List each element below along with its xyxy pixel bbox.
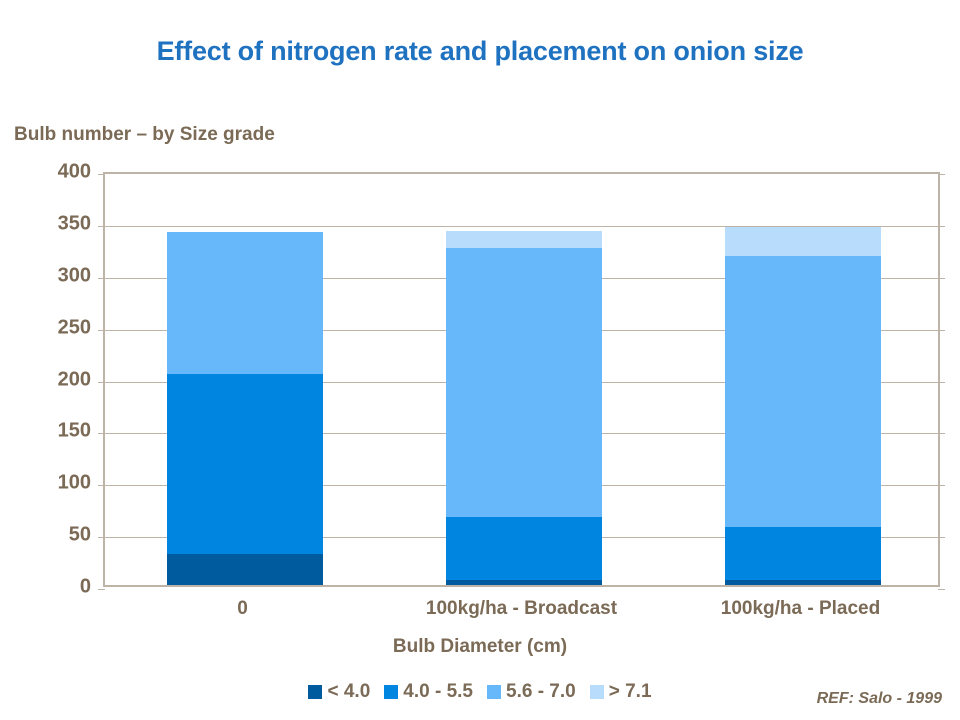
bar-group[interactable]	[167, 170, 323, 585]
y-axis-tick-mark	[938, 278, 945, 279]
legend-label: < 4.0	[327, 681, 370, 703]
bar-segment[interactable]	[167, 554, 323, 585]
page-title: Effect of nitrogen rate and placement on…	[0, 36, 960, 67]
x-axis-category-label: 0	[103, 598, 382, 620]
x-axis-title: Bulb Diameter (cm)	[0, 636, 960, 658]
legend-swatch-icon	[384, 685, 398, 699]
y-axis-tick-mark	[938, 330, 945, 331]
y-axis-tick-mark	[98, 226, 105, 227]
reference-note: REF: Salo - 1999	[817, 690, 942, 708]
y-axis-tick-label: 150	[58, 420, 91, 443]
bar-segment[interactable]	[446, 517, 602, 580]
legend-label: > 7.1	[609, 681, 652, 703]
y-axis-tick-mark	[98, 485, 105, 486]
bar-segment[interactable]	[725, 527, 881, 580]
legend-label: 4.0 - 5.5	[403, 681, 473, 703]
y-axis-tick-mark	[98, 382, 105, 383]
y-axis-tick-mark	[98, 537, 105, 538]
y-axis-tick-mark	[938, 226, 945, 227]
y-axis-tick-label: 400	[58, 161, 91, 184]
y-axis-tick-label: 350	[58, 212, 91, 235]
bar-segment[interactable]	[167, 374, 323, 553]
bar-segment[interactable]	[725, 227, 881, 256]
y-axis-tick-mark	[938, 537, 945, 538]
bar-group[interactable]	[446, 170, 602, 585]
y-axis-tick-mark	[938, 589, 945, 590]
legend-item[interactable]: > 7.1	[590, 681, 652, 703]
legend-label: 5.6 - 7.0	[506, 681, 576, 703]
y-axis-tick-label: 200	[58, 368, 91, 391]
legend-item[interactable]: 5.6 - 7.0	[487, 681, 576, 703]
legend-swatch-icon	[590, 685, 604, 699]
y-axis-tick-label: 300	[58, 264, 91, 287]
y-axis-tick-mark	[98, 330, 105, 331]
x-axis-category-label: 100kg/ha - Placed	[661, 598, 940, 620]
bar-segment[interactable]	[725, 580, 881, 585]
legend-swatch-icon	[308, 685, 322, 699]
y-axis-tick-mark	[938, 485, 945, 486]
y-axis-tick-mark	[98, 589, 105, 590]
legend-item[interactable]: < 4.0	[308, 681, 370, 703]
y-axis-tick-label: 100	[58, 472, 91, 495]
x-axis-category-label: 100kg/ha - Broadcast	[382, 598, 661, 620]
legend-swatch-icon	[487, 685, 501, 699]
legend-item[interactable]: 4.0 - 5.5	[384, 681, 473, 703]
y-axis-tick-mark	[938, 174, 945, 175]
bar-segment[interactable]	[446, 231, 602, 248]
y-axis-tick-mark	[938, 382, 945, 383]
bar-group[interactable]	[725, 170, 881, 585]
y-axis-tick-mark	[938, 433, 945, 434]
y-axis-tick-mark	[98, 174, 105, 175]
bar-segment[interactable]	[446, 248, 602, 517]
y-axis-tick-label: 250	[58, 316, 91, 339]
bar-segment[interactable]	[725, 256, 881, 527]
plot-area	[103, 172, 940, 587]
y-axis-tick-mark	[98, 278, 105, 279]
y-axis-caption: Bulb number – by Size grade	[14, 124, 275, 146]
y-axis-tick-label: 50	[69, 524, 91, 547]
bar-segment[interactable]	[446, 580, 602, 585]
bar-segment[interactable]	[167, 232, 323, 374]
y-axis-tick-label: 0	[80, 576, 91, 599]
y-axis-tick-mark	[98, 433, 105, 434]
